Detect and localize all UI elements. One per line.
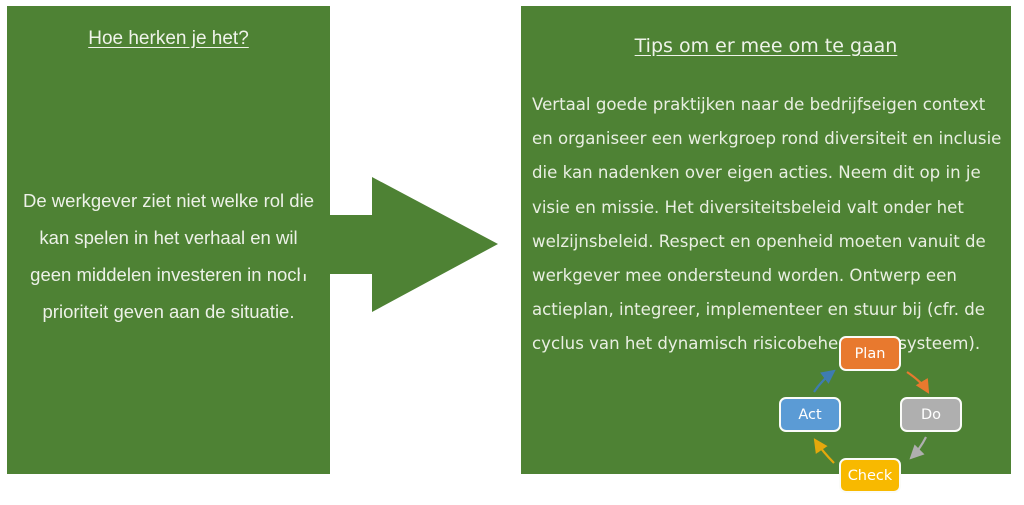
pdca-cycle-diagram: Plan Do Check Act [770,330,985,505]
right-panel-body-text: Vertaal goede praktijken naar de bedrijf… [532,88,1002,362]
left-panel-body-text: De werkgever ziet niet welke rol die kan… [17,182,320,330]
pdca-arrow-do-to-check [911,437,926,458]
pdca-box-do[interactable]: Do [900,397,962,432]
left-panel-heading: Hoe herken je het? [7,28,330,50]
right-panel-heading: Tips om er mee om te gaan [521,35,1011,57]
left-panel-recognition: Hoe herken je het? De werkgever ziet nie… [7,6,330,474]
right-arrow-icon [300,177,510,312]
pdca-box-check[interactable]: Check [839,458,901,493]
pdca-arrow-plan-to-do [907,372,928,392]
pdca-box-plan[interactable]: Plan [839,336,901,371]
pdca-box-act[interactable]: Act [779,397,841,432]
pdca-arrow-check-to-act [815,440,834,463]
pdca-arrow-act-to-plan [814,371,834,392]
